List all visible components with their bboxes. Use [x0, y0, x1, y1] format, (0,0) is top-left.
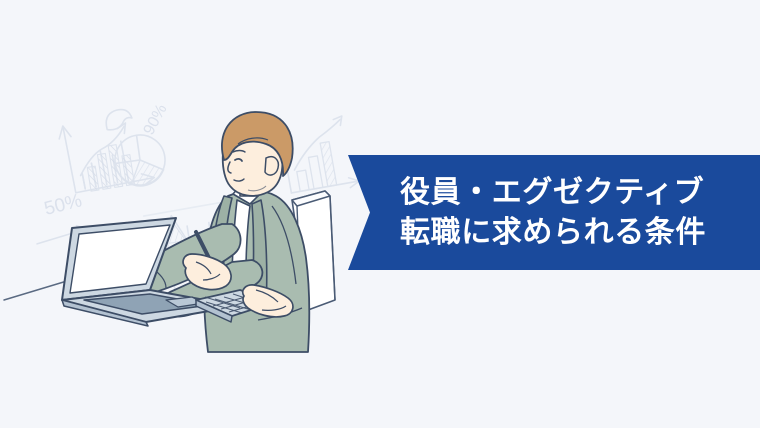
person-head — [222, 112, 293, 196]
decor-hatched-bars — [84, 143, 134, 191]
banner-ribbon-shape — [340, 150, 760, 275]
title-banner: 役員・エグゼクティブ 転職に求められる条件 — [340, 150, 760, 275]
hero-banner: 50% 90% — [0, 0, 760, 428]
decor-label-50-percent: 50% — [42, 190, 84, 220]
decor-label-90-percent: 90% — [141, 102, 171, 138]
decor-arc-blob — [104, 108, 133, 130]
